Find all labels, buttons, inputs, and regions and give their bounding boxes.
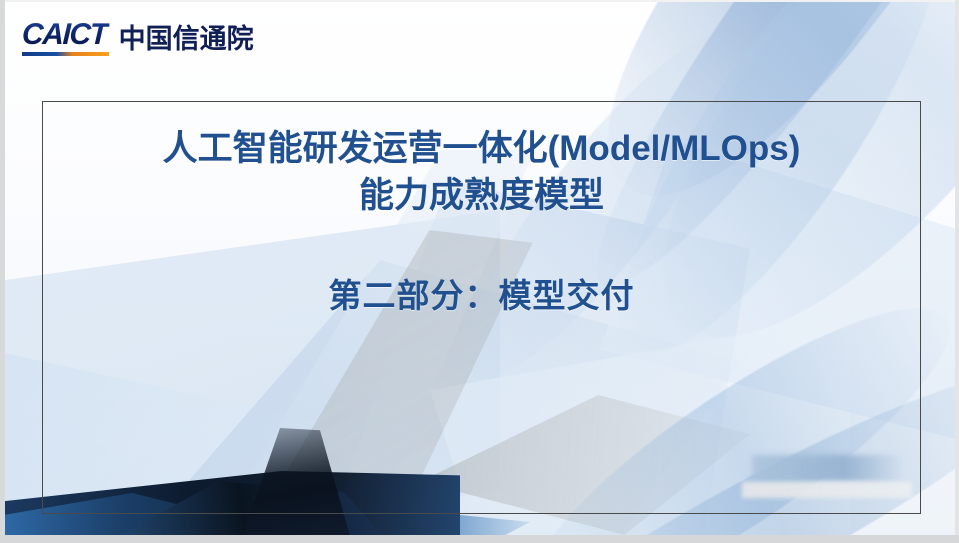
caict-acronym: CAICT (21, 20, 109, 50)
page-edge-top (0, 0, 959, 2)
presentation-slide: CAICT 中国信通院 人工智能研发运营一体化(Model/MLOps) 能力成… (0, 0, 959, 543)
page-edge-bottom (0, 535, 959, 543)
caict-logo-mark: CAICT (22, 20, 109, 56)
page-edge-right (955, 0, 959, 543)
caict-logo: CAICT 中国信通院 (22, 20, 254, 56)
caict-logo-underline (22, 52, 109, 56)
caict-chinese-name: 中国信通院 (119, 26, 254, 56)
page-edge-left (0, 0, 5, 543)
content-frame (42, 101, 921, 514)
